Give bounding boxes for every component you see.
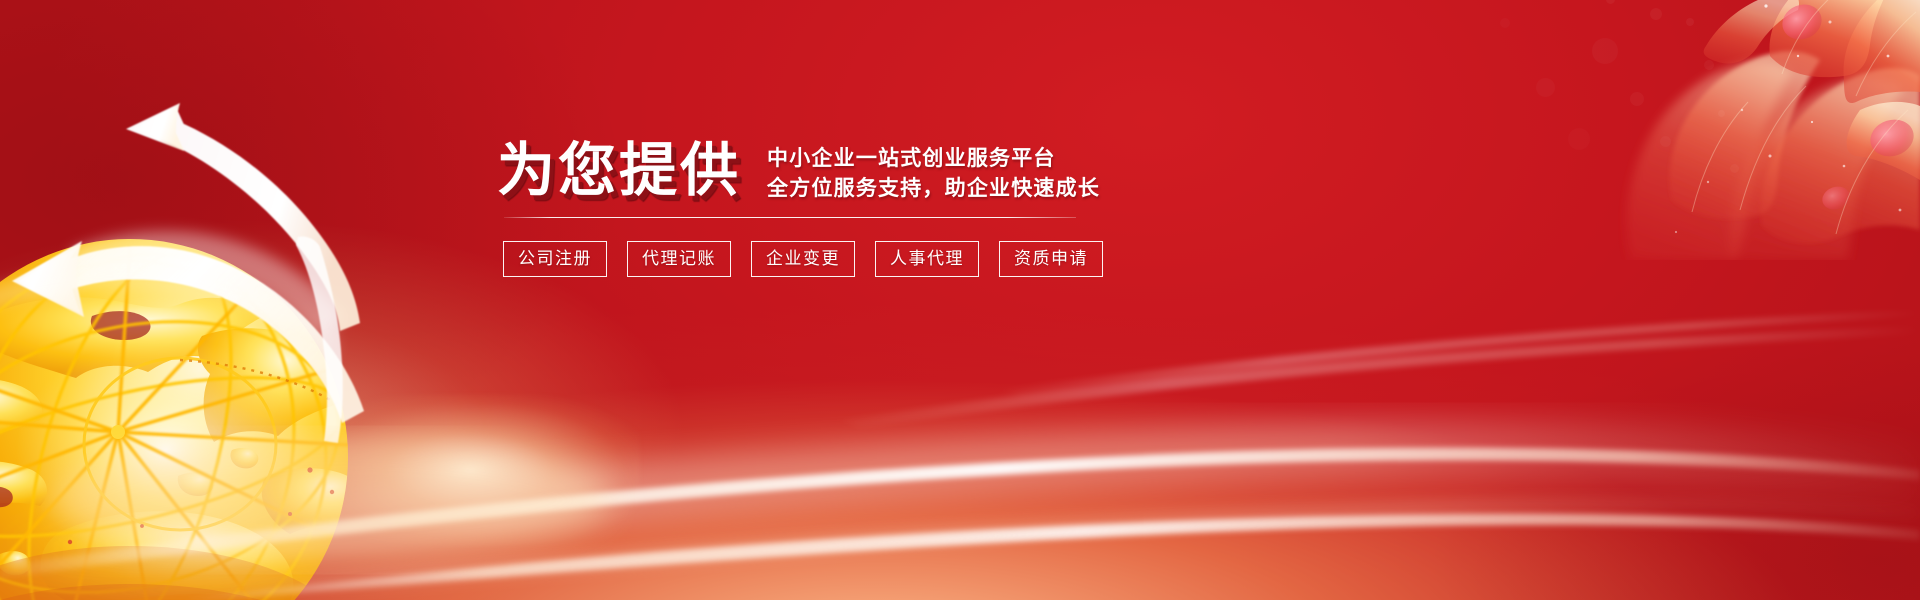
headline-row: 为您提供 中小企业一站式创业服务平台 全方位服务支持，助企业快速成长 <box>497 136 1097 205</box>
subtitle-line-1: 中小企业一站式创业服务平台 <box>767 144 1100 174</box>
pill-hr-agency[interactable]: 人事代理 <box>875 241 979 277</box>
background-vignette <box>0 0 1920 600</box>
pill-enterprise-change[interactable]: 企业变更 <box>751 241 855 277</box>
pill-company-registration[interactable]: 公司注册 <box>503 241 607 277</box>
promo-banner: 为您提供 中小企业一站式创业服务平台 全方位服务支持，助企业快速成长 公司注册 … <box>0 0 1920 600</box>
banner-content: 为您提供 中小企业一站式创业服务平台 全方位服务支持，助企业快速成长 公司注册 … <box>497 136 1097 277</box>
subtitle-line-2: 全方位服务支持，助企业快速成长 <box>767 174 1100 204</box>
pill-agency-bookkeeping[interactable]: 代理记账 <box>627 241 731 277</box>
page-title: 为您提供 <box>497 140 741 201</box>
service-pill-list: 公司注册 代理记账 企业变更 人事代理 资质申请 <box>503 241 1097 277</box>
subtitle-block: 中小企业一站式创业服务平台 全方位服务支持，助企业快速成长 <box>767 136 1100 205</box>
pill-qualification-application[interactable]: 资质申请 <box>999 241 1103 277</box>
divider <box>504 217 1076 218</box>
